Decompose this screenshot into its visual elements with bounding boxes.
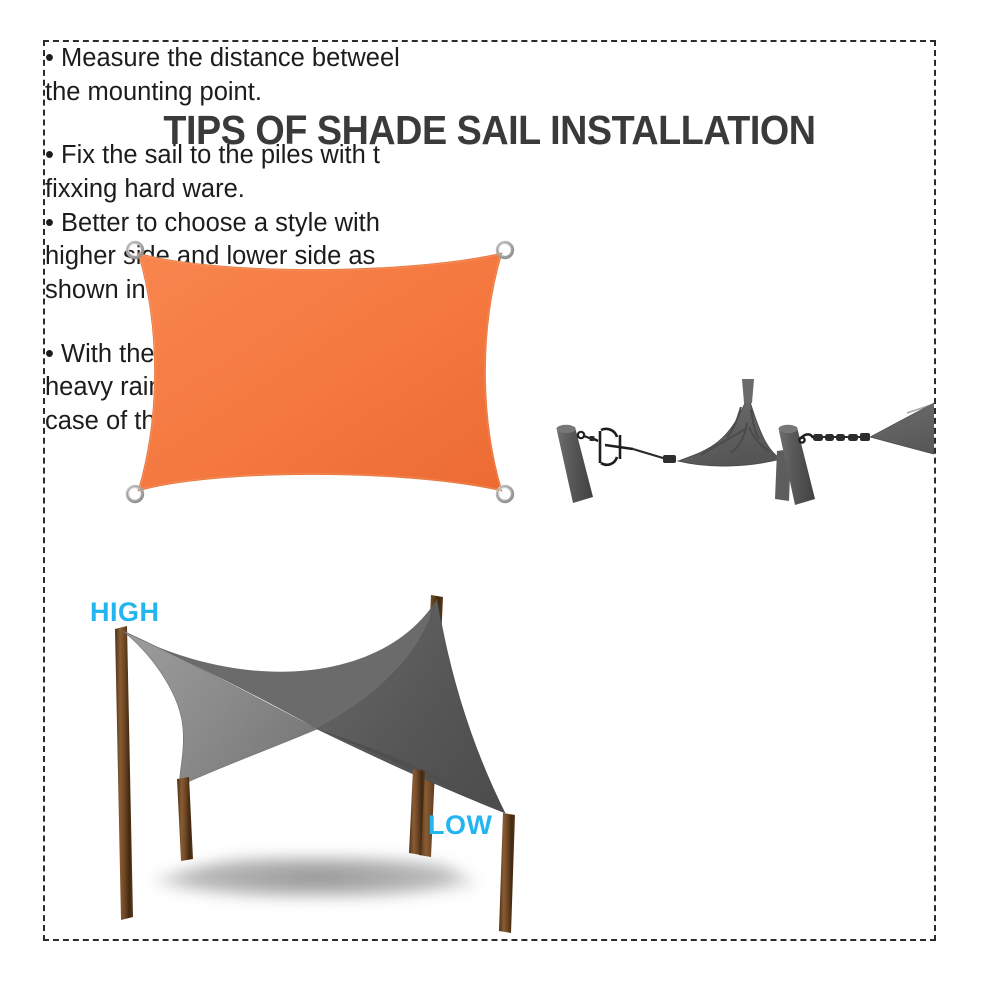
tip-line: the mounting point. <box>45 76 445 110</box>
post-front-left <box>177 777 193 861</box>
post-back-left <box>115 626 133 920</box>
low-corner-label: LOW <box>428 810 492 841</box>
mounting-hardware-illustration <box>545 375 936 505</box>
tip-item: • Measure the distance betweel the mount… <box>45 42 445 109</box>
cable-clamp-right <box>860 433 870 441</box>
bullet-glyph: • <box>45 340 54 368</box>
high-corner-label: HIGH <box>90 597 160 628</box>
tip-line: • Measure the distance betweel <box>45 42 445 76</box>
tip-text: Measure the distance betweel <box>61 44 400 72</box>
sail-fabric <box>138 253 502 491</box>
bullet-glyph: • <box>45 209 54 237</box>
post-front-right-low <box>499 813 515 933</box>
hypar-shade-sail-illustration <box>85 587 555 937</box>
sail-corner-plate-left <box>678 379 791 501</box>
snap-hook-right <box>799 434 813 442</box>
sail-corner-plate-right <box>870 379 936 463</box>
shackle-left <box>590 436 599 441</box>
ground-shadow <box>147 855 485 899</box>
bullet-glyph: • <box>45 44 54 72</box>
hardware-right <box>779 379 937 505</box>
tip-line: fixxing hard ware. <box>45 173 445 207</box>
support-post-left-a <box>742 379 754 403</box>
rectangular-shade-sail-illustration <box>105 227 535 517</box>
turnbuckle-left <box>600 429 633 465</box>
cable-clamp-left <box>663 455 676 463</box>
hardware-left <box>557 379 792 503</box>
infographic-frame: TIPS OF SHADE SAIL INSTALLATION <box>43 40 936 941</box>
page-title: TIPS OF SHADE SAIL INSTALLATION <box>81 107 899 154</box>
bullet-glyph: • <box>45 141 54 169</box>
